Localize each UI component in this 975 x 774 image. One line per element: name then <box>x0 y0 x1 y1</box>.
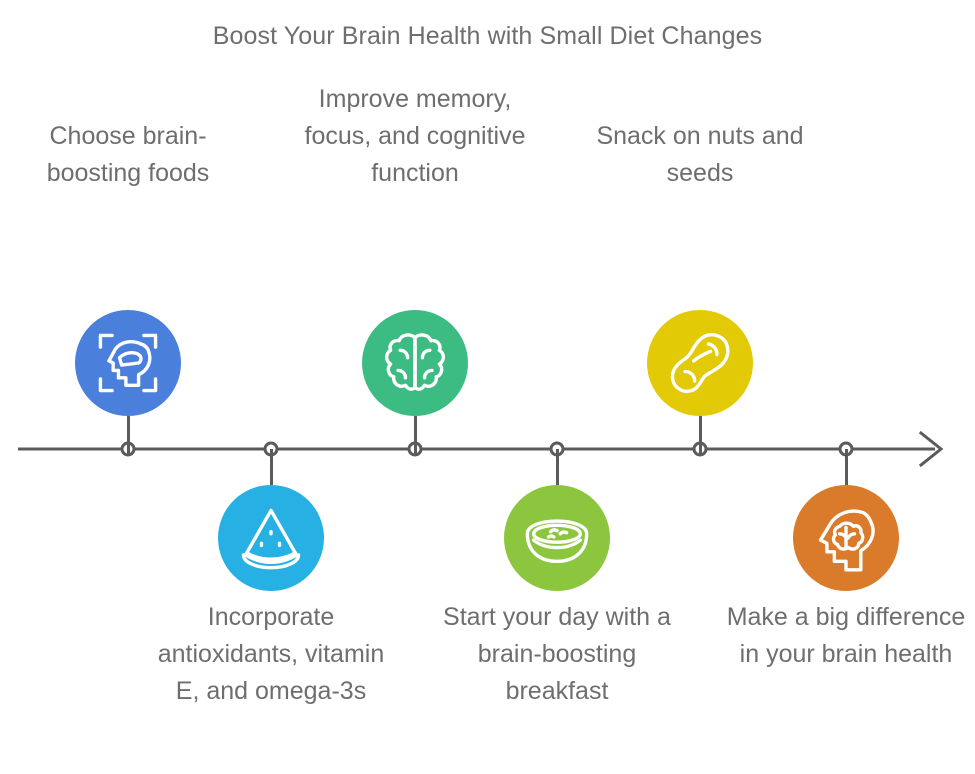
head-scan-brain-icon <box>75 310 181 416</box>
timeline-node-2-stem <box>270 449 273 485</box>
timeline-node-2-icon-circle[interactable] <box>218 485 324 591</box>
timeline-node-2-label: Incorporate antioxidants, vitamin E, and… <box>151 599 391 710</box>
timeline-node-3-label: Improve memory, focus, and cognitive fun… <box>295 81 535 192</box>
timeline-node-6-stem <box>845 449 848 485</box>
timeline-node-3-stem <box>414 416 417 454</box>
timeline-node-4-label: Start your day with a brain-boosting bre… <box>437 599 677 710</box>
timeline-node-1-label: Choose brain-boosting foods <box>8 118 248 192</box>
timeline-node-1-stem <box>127 416 130 454</box>
infographic-canvas: Boost Your Brain Health with Small Diet … <box>0 0 975 774</box>
timeline-axis <box>0 425 975 475</box>
timeline-node-4-stem <box>556 449 559 485</box>
timeline-node-5-icon-circle[interactable] <box>647 310 753 416</box>
timeline-node-3-icon-circle[interactable] <box>362 310 468 416</box>
brain-top-view-icon <box>362 310 468 416</box>
page-title: Boost Your Brain Health with Small Diet … <box>0 22 975 51</box>
peanut-icon <box>647 310 753 416</box>
timeline-node-5-label: Snack on nuts and seeds <box>580 118 820 192</box>
cereal-bowl-icon <box>504 485 610 591</box>
watermelon-slice-icon <box>218 485 324 591</box>
timeline-node-6-label: Make a big difference in your brain heal… <box>726 599 966 673</box>
timeline-node-4-icon-circle[interactable] <box>504 485 610 591</box>
timeline-node-1-icon-circle[interactable] <box>75 310 181 416</box>
head-profile-brain-icon <box>793 485 899 591</box>
timeline-node-5-stem <box>699 416 702 454</box>
timeline-node-6-icon-circle[interactable] <box>793 485 899 591</box>
